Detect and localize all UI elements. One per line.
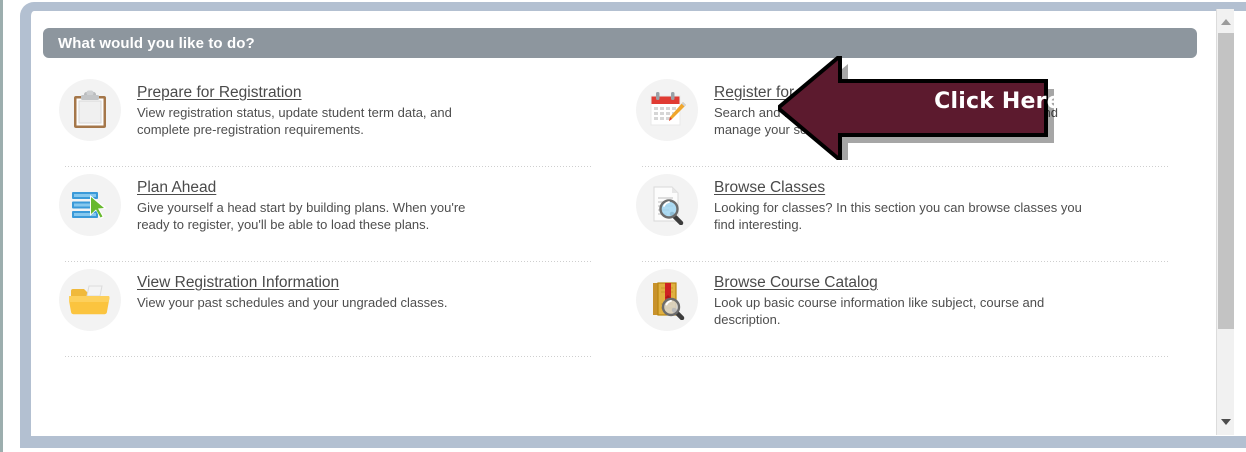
option-card-browse-classes[interactable]: Browse Classes Looking for classes? In t… — [620, 167, 1197, 262]
option-text-block: Browse Course Catalog Look up basic cour… — [714, 269, 1084, 328]
option-card-register-for-classes[interactable]: Register for Classes Search and register… — [620, 72, 1197, 167]
option-card-view-registration-information[interactable]: View Registration Information View your … — [43, 262, 620, 357]
calendar-pencil-icon — [636, 79, 698, 141]
option-description: Give yourself a head start by building p… — [137, 200, 497, 233]
scroll-up-button[interactable] — [1217, 13, 1234, 30]
option-link-browse-classes[interactable]: Browse Classes — [714, 178, 825, 198]
option-description: Look up basic course information like su… — [714, 295, 1084, 328]
options-grid: Prepare for Registration View registrati… — [43, 72, 1197, 372]
option-card-prepare-for-registration[interactable]: Prepare for Registration View registrati… — [43, 72, 620, 167]
registration-page: What would you like to do? Prepare for R… — [0, 0, 1246, 452]
window-left-edge — [0, 0, 3, 452]
folder-icon — [59, 269, 121, 331]
option-text-block: Prepare for Registration View registrati… — [137, 79, 497, 138]
scroll-thumb[interactable] — [1218, 33, 1234, 329]
triangle-up-icon — [1221, 19, 1231, 25]
option-text-block: Register for Classes Search and register… — [714, 79, 1084, 138]
scroll-down-button[interactable] — [1217, 413, 1234, 430]
option-link-view-registration-information[interactable]: View Registration Information — [137, 273, 339, 293]
option-link-register-for-classes[interactable]: Register for Classes — [714, 83, 854, 103]
option-text-block: Browse Classes Looking for classes? In t… — [714, 174, 1084, 233]
option-description: View your past schedules and your ungrad… — [137, 295, 448, 312]
vertical-scrollbar[interactable] — [1216, 9, 1234, 435]
page-header-bar: What would you like to do? — [43, 28, 1197, 58]
option-description: Search and register for your classes. Yo… — [714, 105, 1084, 138]
option-link-prepare-for-registration[interactable]: Prepare for Registration — [137, 83, 302, 103]
page-title: What would you like to do? — [43, 35, 255, 52]
option-text-block: View Registration Information View your … — [137, 269, 448, 312]
option-description: Looking for classes? In this section you… — [714, 200, 1084, 233]
option-text-block: Plan Ahead Give yourself a head start by… — [137, 174, 497, 233]
document-magnifier-icon — [636, 174, 698, 236]
option-card-plan-ahead[interactable]: Plan Ahead Give yourself a head start by… — [43, 167, 620, 262]
option-card-browse-course-catalog[interactable]: Browse Course Catalog Look up basic cour… — [620, 262, 1197, 357]
book-magnifier-icon — [636, 269, 698, 331]
option-link-plan-ahead[interactable]: Plan Ahead — [137, 178, 216, 198]
clipboard-icon — [59, 79, 121, 141]
option-description: View registration status, update student… — [137, 105, 497, 138]
plan-list-cursor-icon — [59, 174, 121, 236]
triangle-down-icon — [1221, 419, 1231, 425]
option-link-browse-course-catalog[interactable]: Browse Course Catalog — [714, 273, 878, 293]
